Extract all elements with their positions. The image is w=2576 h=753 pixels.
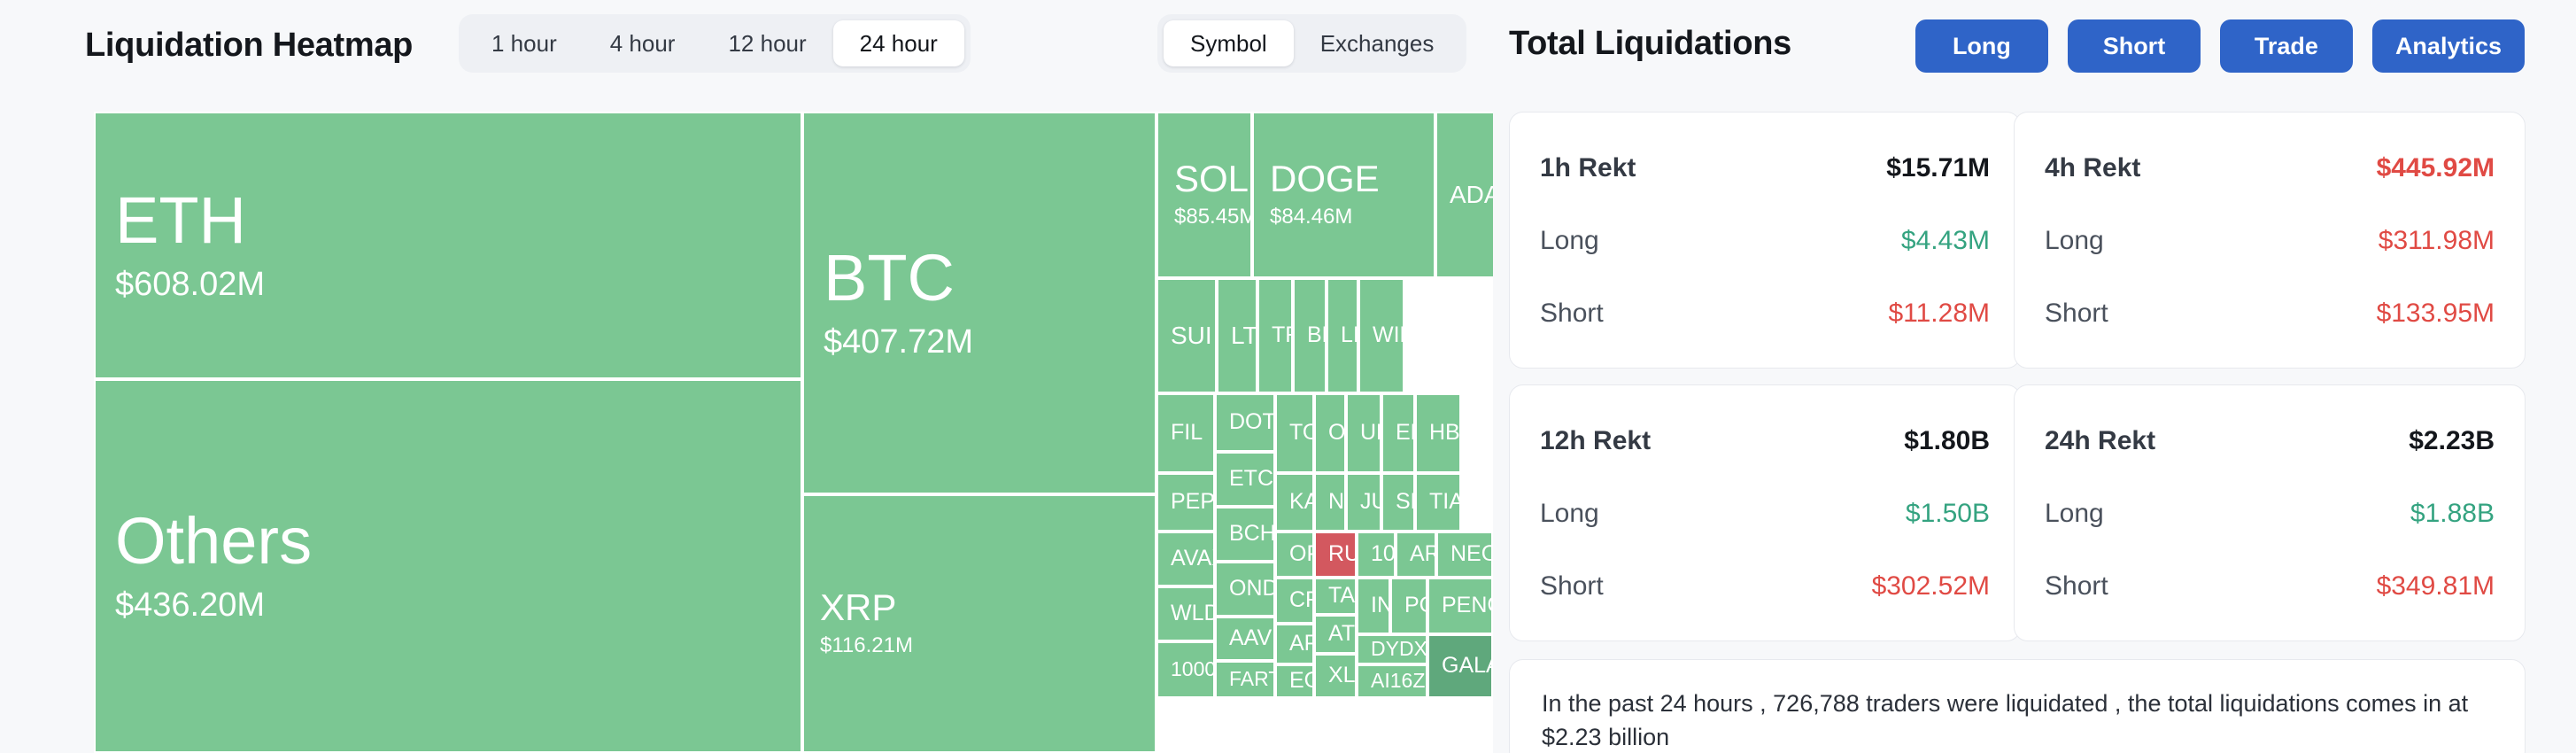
total-liquidations-title: Total Liquidations (1509, 25, 1791, 63)
stat-value-total: $15.71M (1886, 153, 1990, 183)
stat-value-total: $445.92M (2377, 153, 2495, 183)
treemap-tile-hbar[interactable]: HBAR (1415, 393, 1461, 473)
tile-value: $85.45M (1158, 206, 1250, 229)
treemap-tile-sui[interactable]: SUI (1156, 278, 1217, 393)
treemap-tile-fil[interactable]: FIL (1156, 393, 1215, 473)
tile-symbol: PEPE (1158, 491, 1213, 514)
treemap-tile-dot[interactable]: DOT (1215, 393, 1275, 452)
tile-symbol: CRV (1277, 589, 1312, 612)
stat-row-total: 1h Rekt$15.71M (1540, 153, 1990, 183)
tab-1-hour[interactable]: 1 hour (465, 20, 584, 66)
treemap-tile-tia[interactable]: TIA (1415, 473, 1461, 532)
stat-label-long: Long (2045, 226, 2104, 256)
stat-card-24h-rekt: 24h Rekt$2.23BLong$1.88BShort$349.81M (2014, 384, 2526, 641)
stat-value-long: $311.98M (2379, 226, 2495, 256)
tile-symbol: 1000PEPE (1158, 659, 1213, 679)
treemap-tile-others[interactable]: Others$436.20M (94, 379, 802, 753)
tile-symbol: AI16Z (1358, 671, 1426, 691)
stat-label-short: Short (2045, 299, 2108, 329)
treemap-tile-trump[interactable]: TRUMP (1257, 278, 1293, 393)
tile-symbol: ADA (1437, 182, 1493, 208)
treemap-tile-jup[interactable]: JUP (1346, 473, 1381, 532)
tile-symbol: JUP (1348, 491, 1380, 514)
stat-label-long: Long (2045, 499, 2104, 529)
stat-card-12h-rekt: 12h Rekt$1.80BLong$1.50BShort$302.52M (1509, 384, 2021, 641)
treemap-tile-ordi[interactable]: ORDI (1314, 393, 1346, 473)
treemap-tile-ada[interactable]: ADA (1435, 112, 1493, 278)
tile-symbol: XLM (1316, 664, 1355, 687)
treemap-tile-neo[interactable]: NEO (1436, 532, 1493, 578)
tile-symbol: ORDI (1316, 422, 1344, 445)
stat-label-short: Short (1540, 299, 1604, 329)
stat-row-total: 24h Rekt$2.23B (2045, 426, 2495, 456)
treemap-tile-ar[interactable]: AR (1396, 532, 1436, 578)
tab-symbol[interactable]: Symbol (1164, 20, 1294, 66)
treemap-tile-apt[interactable]: APT (1275, 624, 1314, 664)
stat-card-4h-rekt: 4h Rekt$445.92MLong$311.98MShort$133.95M (2014, 112, 2526, 369)
app-header: Liquidation Heatmap 1 hour4 hour12 hour2… (0, 0, 2576, 99)
tile-symbol: AVAX (1158, 547, 1213, 571)
treemap-tile-1000pepe[interactable]: 1000PEPE (1156, 641, 1215, 698)
treemap-tile-inj[interactable]: INJ (1357, 578, 1390, 634)
treemap-tile-uni[interactable]: UNI (1346, 393, 1381, 473)
tab-exchanges[interactable]: Exchanges (1294, 20, 1461, 66)
tile-symbol: SHIB (1383, 491, 1413, 514)
summary-card: In the past 24 hours , 726,788 traders w… (1509, 659, 2526, 753)
stat-label-total: 24h Rekt (2045, 426, 2155, 456)
treemap-tile-bch[interactable]: BCH (1215, 507, 1275, 562)
tab-24-hour[interactable]: 24 hour (833, 20, 964, 66)
treemap-tile-op[interactable]: OP (1275, 532, 1314, 578)
stat-label-long: Long (1540, 226, 1599, 256)
treemap-tile-crv[interactable]: CRV (1275, 578, 1314, 624)
tile-symbol: APT (1277, 633, 1312, 656)
stat-row-long: Long$311.98M (2045, 226, 2495, 256)
stat-value-long: $1.88B (2410, 499, 2495, 529)
tile-symbol: GALA (1429, 655, 1491, 678)
stat-value-short: $133.95M (2377, 299, 2495, 329)
stat-value-long: $4.43M (1901, 226, 1990, 256)
tile-symbol: SUI (1158, 323, 1215, 349)
treemap-tile-sol[interactable]: SOL$85.45M (1156, 112, 1252, 278)
stat-row-short: Short$133.95M (2045, 299, 2495, 329)
treemap-tile-xlm[interactable]: XLM (1314, 654, 1357, 698)
tile-symbol: Others (96, 508, 801, 574)
stat-value-short: $302.52M (1872, 571, 1990, 602)
tile-value: $84.46M (1254, 206, 1434, 229)
tile-symbol: RUNE (1316, 543, 1355, 566)
treemap-tile-ton[interactable]: TON (1275, 393, 1314, 473)
tile-symbol: NEAR (1316, 491, 1344, 514)
treemap-tile-ena[interactable]: ENA (1381, 393, 1415, 473)
long-button[interactable]: Long (1915, 19, 2048, 73)
stat-row-total: 12h Rekt$1.80B (1540, 426, 1990, 456)
treemap-tile-ondo[interactable]: ONDO (1215, 562, 1275, 617)
stat-row-short: Short$11.28M (1540, 299, 1990, 329)
heatmap-page-title: Liquidation Heatmap (85, 27, 413, 65)
tile-symbol: BNB (1295, 324, 1325, 347)
liquidation-dashboard: Liquidation Heatmap 1 hour4 hour12 hour2… (0, 0, 2576, 753)
treemap-tile-pepe[interactable]: PEPE (1156, 473, 1215, 532)
treemap-tile-gala[interactable]: GALA (1427, 634, 1493, 698)
tile-symbol: UNI (1348, 422, 1380, 445)
treemap-tile-aave[interactable]: AAVE (1215, 617, 1275, 661)
tile-symbol: INJ (1358, 594, 1389, 617)
summary-text: In the past 24 hours , 726,788 traders w… (1542, 687, 2495, 753)
tile-symbol: KAS (1277, 491, 1312, 514)
tile-symbol: DYDX (1358, 639, 1426, 659)
stat-value-total: $2.23B (2409, 426, 2495, 456)
treemap-tile-ltc[interactable]: LTC (1217, 278, 1257, 393)
trade-button[interactable]: Trade (2220, 19, 2353, 73)
timeframe-tab-group: 1 hour4 hour12 hour24 hour (459, 14, 971, 73)
tile-symbol: DOT (1217, 411, 1273, 434)
tile-symbol: BCH (1217, 523, 1273, 546)
stat-row-short: Short$302.52M (1540, 571, 1990, 602)
tile-symbol: ATOM (1316, 623, 1355, 646)
tile-value: $407.72M (804, 324, 1155, 361)
treemap-tile-kas[interactable]: KAS (1275, 473, 1314, 532)
tile-value: $116.21M (804, 634, 1155, 657)
tile-symbol: PENGU (1429, 594, 1491, 617)
tile-symbol: BTC (804, 245, 1155, 311)
stat-label-short: Short (1540, 571, 1604, 602)
treemap-tile-fartcoin[interactable]: FARTCOIN (1215, 661, 1275, 698)
stat-label-total: 1h Rekt (1540, 153, 1636, 183)
stat-row-total: 4h Rekt$445.92M (2045, 153, 2495, 183)
tab-12-hour[interactable]: 12 hour (701, 20, 832, 66)
treemap-tile-pol[interactable]: POL (1390, 578, 1427, 634)
tile-symbol: NEO (1438, 543, 1491, 566)
treemap-tile-rune[interactable]: RUNE (1314, 532, 1357, 578)
treemap-tile-ai16z[interactable]: AI16Z (1357, 664, 1427, 698)
treemap-tile-eth[interactable]: ETH$608.02M (94, 112, 802, 379)
tile-symbol: OP (1277, 543, 1312, 566)
liquidation-treemap[interactable]: ETH$608.02MOthers$436.20MBTC$407.72MXRP$… (94, 112, 1493, 753)
stat-label-short: Short (2045, 571, 2108, 602)
tile-symbol: LTC (1218, 323, 1256, 349)
stat-value-long: $1.50B (1906, 499, 1990, 529)
treemap-tile-bnb[interactable]: BNB (1293, 278, 1327, 393)
stat-row-long: Long$1.88B (2045, 499, 2495, 529)
tile-symbol: EOS (1277, 670, 1312, 693)
stat-value-total: $1.80B (1904, 426, 1990, 456)
treemap-tile-avax[interactable]: AVAX (1156, 532, 1215, 586)
treemap-tile-xrp[interactable]: XRP$116.21M (802, 494, 1156, 753)
tile-symbol: TIA (1417, 491, 1459, 514)
stat-row-long: Long$4.43M (1540, 226, 1990, 256)
tile-symbol: ETH (96, 187, 801, 253)
short-button[interactable]: Short (2068, 19, 2201, 73)
treemap-tile-etc[interactable]: ETC (1215, 452, 1275, 507)
treemap-tile-btc[interactable]: BTC$407.72M (802, 112, 1156, 494)
tile-symbol: LINK (1328, 324, 1357, 347)
tab-4-hour[interactable]: 4 hour (584, 20, 702, 66)
treemap-tile-tao[interactable]: TAO (1314, 578, 1357, 615)
treemap-tile-near[interactable]: NEAR (1314, 473, 1346, 532)
tile-value: $436.20M (96, 587, 801, 625)
action-button-group: LongShortTradeAnalytics (1915, 19, 2525, 73)
stat-label-total: 12h Rekt (1540, 426, 1651, 456)
tile-symbol: TON (1277, 422, 1312, 445)
stat-card-1h-rekt: 1h Rekt$15.71MLong$4.43MShort$11.28M (1509, 112, 2021, 369)
treemap-tile-wld[interactable]: WLD (1156, 586, 1215, 641)
stat-label-long: Long (1540, 499, 1599, 529)
tile-symbol: WLD (1158, 602, 1213, 625)
tile-symbol: AAVE (1217, 627, 1273, 650)
tile-symbol: FIL (1158, 422, 1213, 445)
tile-symbol: POL (1392, 594, 1426, 617)
treemap-tile-doge[interactable]: DOGE$84.46M (1252, 112, 1435, 278)
treemap-tile-eos[interactable]: EOS (1275, 664, 1314, 698)
tile-symbol: 10 (1358, 543, 1394, 566)
stat-row-long: Long$1.50B (1540, 499, 1990, 529)
treemap-tile-pengu[interactable]: PENGU (1427, 578, 1493, 634)
stat-label-total: 4h Rekt (2045, 153, 2140, 183)
tile-symbol: ETC (1217, 468, 1273, 491)
treemap-tile-10[interactable]: 10 (1357, 532, 1396, 578)
analytics-button[interactable]: Analytics (2372, 19, 2525, 73)
tile-symbol: XRP (804, 589, 1155, 627)
view-mode-tab-group: SymbolExchanges (1157, 14, 1466, 73)
treemap-tile-atom[interactable]: ATOM (1314, 615, 1357, 654)
treemap-tile-link[interactable]: LINK (1327, 278, 1358, 393)
tile-value: $608.02M (96, 267, 801, 304)
tile-symbol: ENA (1383, 422, 1413, 445)
tile-symbol: TAO (1316, 585, 1355, 608)
tile-symbol: DOGE (1254, 160, 1434, 198)
tile-symbol: TRUMP (1259, 324, 1291, 347)
tile-symbol: SOL (1158, 160, 1250, 198)
treemap-tile-shib[interactable]: SHIB (1381, 473, 1415, 532)
tile-symbol: WIF (1360, 324, 1403, 347)
tile-symbol: ONDO (1217, 578, 1273, 601)
tile-symbol: HBAR (1417, 422, 1459, 445)
stat-value-short: $11.28M (1888, 299, 1990, 329)
stat-value-short: $349.81M (2377, 571, 2495, 602)
stat-row-short: Short$349.81M (2045, 571, 2495, 602)
treemap-tile-dydx[interactable]: DYDX (1357, 634, 1427, 664)
tile-symbol: FARTCOIN (1217, 669, 1273, 689)
tile-symbol: AR (1397, 543, 1435, 566)
treemap-tile-wif[interactable]: WIF (1358, 278, 1404, 393)
